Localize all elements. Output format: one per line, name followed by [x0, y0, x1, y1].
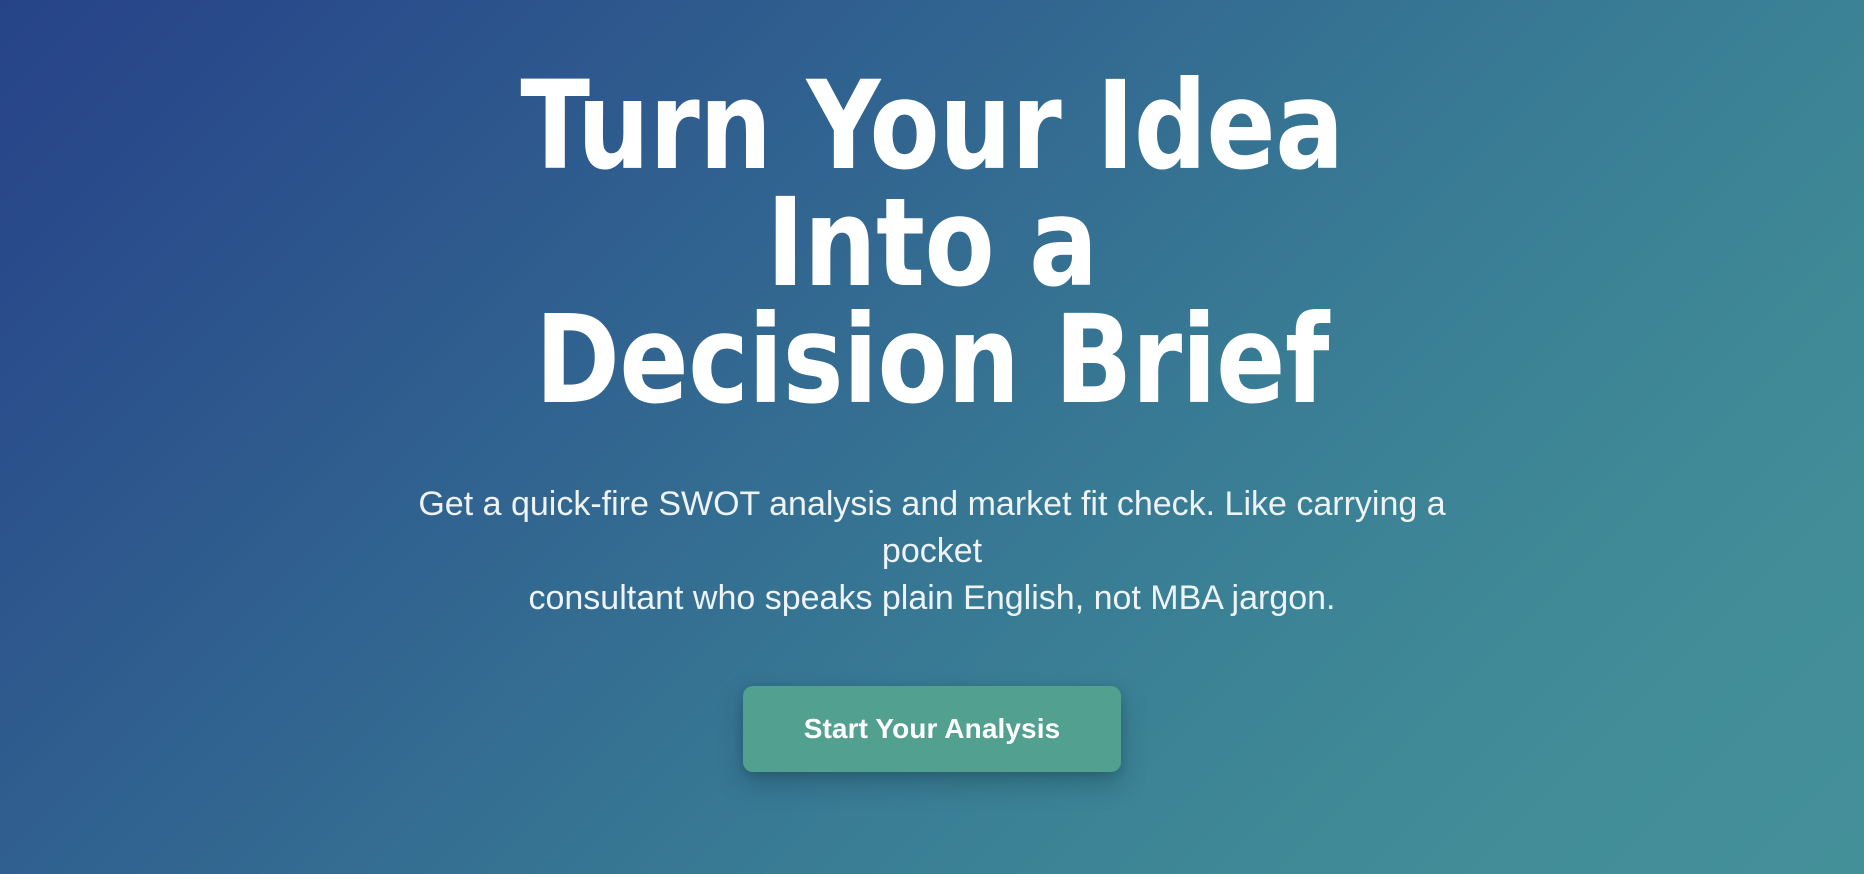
page-title: Turn Your Idea Into a Decision Brief [467, 68, 1397, 419]
start-your-analysis-button[interactable]: Start Your Analysis [743, 686, 1121, 772]
cta-container: Start Your Analysis [743, 686, 1121, 772]
hero-section: Turn Your Idea Into a Decision Brief Get… [0, 0, 1864, 874]
hero-subtitle-line-2: consultant who speaks plain English, not… [528, 579, 1335, 617]
hero-subtitle-line-1: Get a quick-fire SWOT analysis and marke… [418, 485, 1445, 570]
page-title-line-1: Turn Your Idea Into a [520, 55, 1343, 314]
hero-content: Turn Your Idea Into a Decision Brief Get… [252, 68, 1612, 772]
page-title-line-2: Decision Brief [535, 289, 1329, 431]
hero-subtitle: Get a quick-fire SWOT analysis and marke… [367, 481, 1497, 622]
